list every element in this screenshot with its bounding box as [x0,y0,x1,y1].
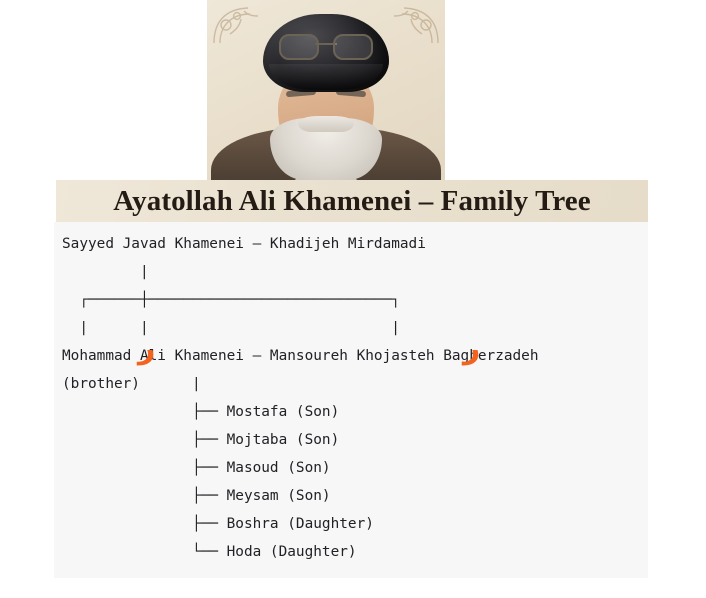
title-banner: Ayatollah Ali Khamenei – Family Tree [56,180,648,222]
corner-filigree-icon [388,3,442,47]
family-tree-ascii: Sayyed Javad Khamenei — Khadijeh Mirdama… [62,230,539,566]
khamenei-portrait-image [207,0,445,180]
lens-right-shape [333,34,373,60]
lens-left-shape [279,34,319,60]
corner-filigree-icon [210,3,264,47]
glasses-icon [279,34,373,58]
page-title: Ayatollah Ali Khamenei – Family Tree [113,185,591,218]
mustache-shape [298,116,354,132]
family-tree-panel: Sayyed Javad Khamenei — Khadijeh Mirdama… [54,222,648,578]
